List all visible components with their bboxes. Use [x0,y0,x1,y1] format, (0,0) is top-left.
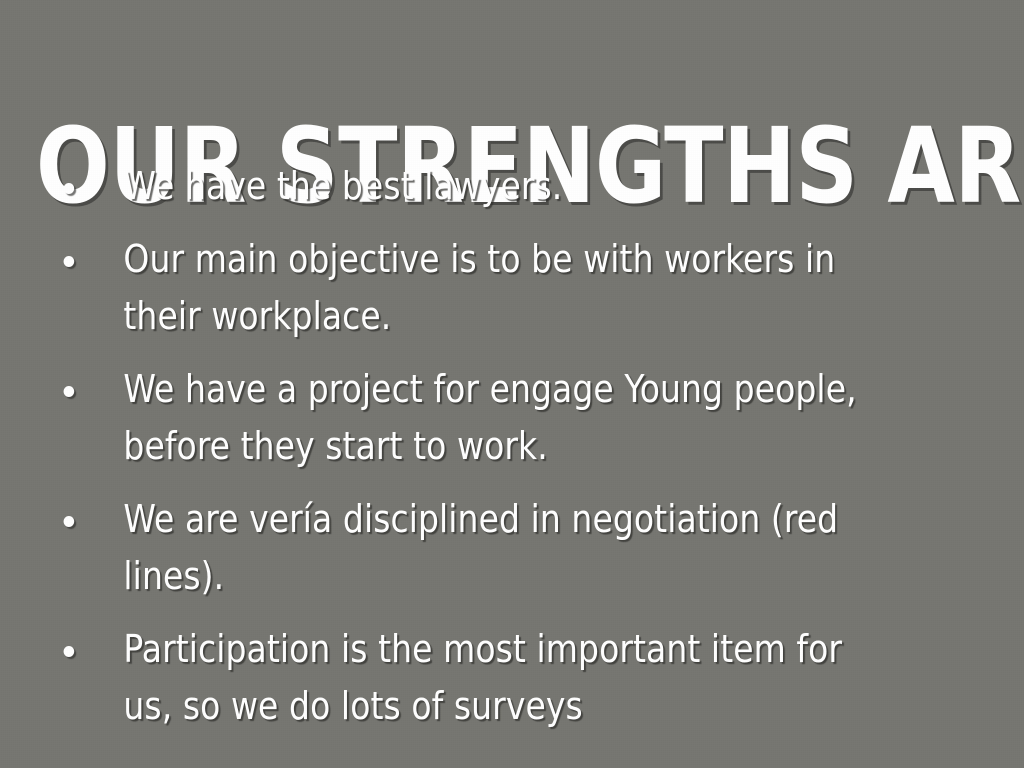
list-item-label: We have a project for engage Young peopl… [123,361,866,475]
list-item: We have the best lawyers. [52,158,951,215]
list-item: We are vería disciplined in negotiation … [52,491,951,605]
list-item-label: We are vería disciplined in negotiation … [123,491,866,605]
bullet-dot-icon [64,516,75,527]
list-item-label: Our main objective is to be with workers… [123,231,866,345]
list-item-label: Participation is the most important item… [123,621,866,735]
bullet-dot-icon [64,183,75,194]
list-item-label: We have the best lawyers. [123,158,866,215]
bullet-dot-icon [64,256,75,267]
list-item: Participation is the most important item… [52,621,951,735]
bullet-dot-icon [64,386,75,397]
list-item: We have a project for engage Young peopl… [52,361,951,475]
bullet-list: We have the best lawyers. Our main objec… [52,158,984,735]
presentation-slide: OUR STRENGTHS ARE: We have the best lawy… [0,0,1024,768]
list-item: Our main objective is to be with workers… [52,231,951,345]
bullet-dot-icon [64,646,75,657]
